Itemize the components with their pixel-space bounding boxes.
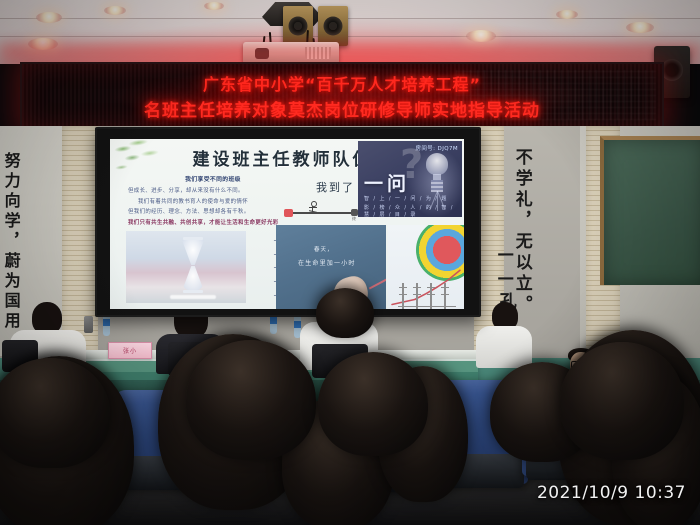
audience-head-silhouette: [318, 352, 428, 456]
ceiling-light-icon: [204, 2, 224, 10]
slide-body-line: 我们有着共同的教书育人的使命与爱的情怀: [128, 197, 298, 208]
slide-body-line: 但成长、进步、分享，却从来没有什么不同。: [128, 186, 298, 197]
slide-arrived-label: 我到了: [316, 179, 355, 195]
stick-figure-icon: [308, 201, 317, 217]
slide-body-line: 但我们的经历、理念、方法、思想却各有千秋。: [128, 207, 298, 218]
timeline-start-marker: [284, 209, 293, 217]
name-card-text: 张小: [123, 346, 137, 355]
timeline-end-marker: [351, 209, 358, 216]
audience-head-silhouette: [186, 340, 316, 460]
blue-panel-line-1: 春天，: [314, 245, 334, 253]
photo-timestamp: 2021/10/9 10:37: [537, 483, 686, 503]
slide-body-text: 我们享受不同的班级 但成长、进步、分享，却从来没有什么不同。 我们有着共同的教书…: [128, 175, 298, 228]
ceiling-light-icon: [556, 10, 578, 19]
ceiling: [0, 0, 700, 64]
ceiling-light-icon: [104, 6, 126, 15]
question-headline: 一问: [364, 169, 410, 196]
slide-growth-chart: [388, 225, 464, 309]
hourglass-image: [126, 231, 246, 303]
name-card: 张小: [108, 342, 152, 359]
hourglass-icon: [180, 237, 206, 295]
slide-question-panel: 房间号: DJQ7M ? 一问 智 / 上 / 一 / 问 / 为 / 题 影 …: [358, 141, 462, 217]
slide-body-line: 我们只有共生共融、共创共享，才能让生活和生命更好光彩: [128, 218, 298, 229]
blue-panel-line-2: 在生命里加一小时: [298, 258, 356, 267]
slide-body-heading: 我们享受不同的班级: [128, 175, 298, 186]
slide-timeline: 终: [284, 205, 358, 221]
ceiling-light-icon: [36, 12, 62, 23]
water-bottle: [103, 314, 110, 336]
projection-screen: 建设班主任教师队伍 我们享受不同的班级 但成长、进步、分享，却从来没有什么不同。…: [95, 127, 481, 317]
banner-glow: [0, 44, 700, 64]
photo-frame: 广东省中小学“百千万人才培养工程” 名班主任培养对象莫杰岗位研修导师实地指导活动…: [0, 0, 700, 525]
audience-head-silhouette: [316, 288, 374, 338]
timeline-end-label: 终: [352, 216, 356, 222]
lightbulb-icon: [420, 153, 454, 213]
audience-head-silhouette: [560, 342, 684, 460]
ceiling-light-icon: [626, 22, 654, 33]
chalk-stroke: [369, 278, 386, 289]
ceiling-light-icon: [466, 30, 496, 42]
blackboard: [600, 136, 700, 285]
chart-baseline: [398, 306, 456, 307]
presentation-slide: 建设班主任教师队伍 我们享受不同的班级 但成长、进步、分享，却从来没有什么不同。…: [110, 139, 464, 309]
audience-member: [476, 302, 532, 368]
audience-head-silhouette: [0, 358, 110, 468]
banner-line-1: 广东省中小学“百千万人才培养工程”: [203, 71, 481, 95]
banner-line-2: 名班主任培养对象莫杰岗位研修导师实地指导活动: [144, 96, 540, 121]
led-banner: 广东省中小学“百千万人才培养工程” 名班主任培养对象莫杰岗位研修导师实地指导活动: [20, 62, 664, 130]
